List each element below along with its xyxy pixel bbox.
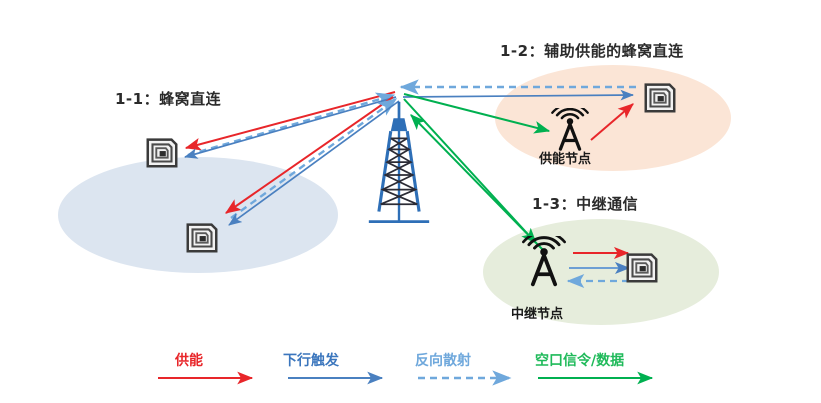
legend-label-backscatter: 反向散射 <box>415 350 471 370</box>
diagram-svg <box>0 0 821 403</box>
tag-upper-right <box>646 85 675 112</box>
assisted-power-zone <box>495 65 731 171</box>
cellular-base-station-tower <box>369 102 429 222</box>
scenario-title-1-1: 1-1：蜂窝直连 <box>115 88 221 109</box>
scenario-title-1-3: 1-3：中继通信 <box>532 193 638 214</box>
legend-label-power: 供能 <box>175 350 203 370</box>
diagram-canvas: 1-1：蜂窝直连 1-2：辅助供能的蜂窝直连 1-3：中继通信 供能节点 中继节… <box>0 0 821 403</box>
scenario-title-1-2: 1-2：辅助供能的蜂窝直连 <box>500 40 684 61</box>
relay-node-label: 中继节点 <box>511 303 563 322</box>
legend-label-downlink-trigger: 下行触发 <box>283 350 339 370</box>
power-node-label: 供能节点 <box>539 148 591 167</box>
cell-direct-zone <box>58 157 338 273</box>
legend-label-air-interface: 空口信令/数据 <box>535 350 624 370</box>
tag-lower-right <box>628 255 657 282</box>
tag-lower-left <box>188 225 217 252</box>
tag-upper-left <box>148 140 177 167</box>
